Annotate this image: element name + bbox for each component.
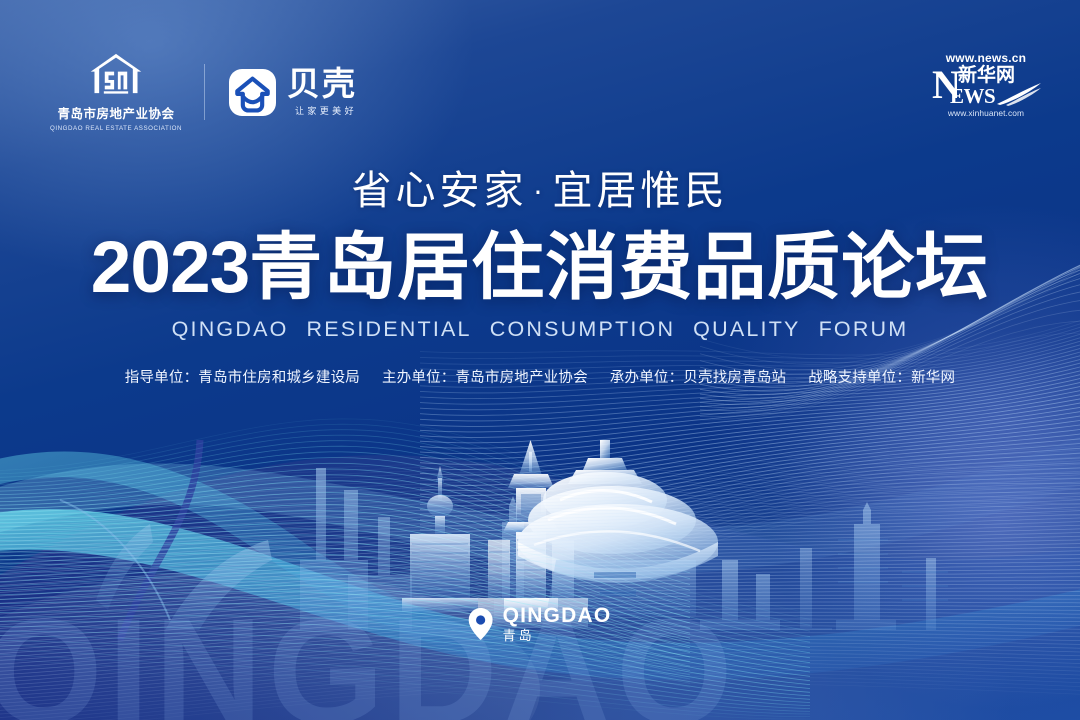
- city-name-en: QINGDAO: [503, 605, 612, 626]
- qingdao-real-estate-association-logo[interactable]: 青岛市房地产业协会 QINGDAO REAL ESTATE ASSOCIATIO…: [52, 52, 180, 132]
- xinhua-mark: N 新华网 EWS: [932, 66, 1040, 106]
- organizer-item-0: 指导单位：青岛市住房和城乡建设局: [114, 370, 371, 386]
- organizer-item-3: 战略支持单位：新华网: [797, 370, 966, 386]
- english-subtitle-word-4: FORUM: [810, 317, 918, 341]
- english-subtitle-word-0: QINGDAO: [163, 317, 298, 341]
- title-main-cn: 青岛居住消费品质论坛: [249, 225, 989, 310]
- house-seal-icon: [87, 52, 145, 96]
- slogan-left: 省心安家: [352, 168, 528, 214]
- organizer-item-1: 主办单位：青岛市房地产业协会: [371, 370, 599, 386]
- xinhua-letters-ews: EWS: [950, 86, 995, 107]
- beike-wordmark: 贝壳 让家更美好: [287, 67, 357, 117]
- title-year: 2023: [91, 227, 249, 308]
- event-slogan: 省心安家·宜居惟民: [0, 168, 1080, 216]
- xinhua-url-bottom: www.xinhuanet.com: [932, 108, 1040, 118]
- beike-slogan: 让家更美好: [287, 104, 357, 117]
- swoosh-icon: [996, 82, 1042, 106]
- city-marker-text: QINGDAO 青岛: [503, 605, 612, 643]
- logo-divider: [204, 64, 205, 120]
- english-subtitle-word-2: CONSUMPTION: [481, 317, 684, 341]
- organizers-line: 指导单位：青岛市住房和城乡建设局主办单位：青岛市房地产业协会承办单位：贝壳找房青…: [0, 368, 1080, 388]
- slogan-right: 宜居惟民: [552, 168, 728, 214]
- english-subtitle-word-1: RESIDENTIAL: [298, 317, 481, 341]
- organizer-item-2: 承办单位：贝壳找房青岛站: [599, 370, 797, 386]
- beike-name-cn: 贝壳: [287, 67, 357, 100]
- beike-shell-icon: [229, 69, 276, 116]
- city-name-cn: 青岛: [503, 630, 612, 643]
- beike-logo[interactable]: 贝壳 让家更美好: [229, 67, 357, 117]
- city-watermark-text: QINGDAO: [0, 596, 738, 720]
- poster-canvas: QINGDAO 青岛市房地产业协会 QINGDAO REAL ESTATE AS…: [0, 0, 1080, 720]
- xinhua-news-logo[interactable]: www.news.cn N 新华网 EWS www.xinhuanet.com: [932, 52, 1040, 118]
- assoc-name-cn: 青岛市房地产业协会: [57, 103, 174, 122]
- english-subtitle-word-3: QUALITY: [684, 317, 809, 341]
- sponsor-logo-bar: 青岛市房地产业协会 QINGDAO REAL ESTATE ASSOCIATIO…: [52, 52, 357, 132]
- english-subtitle: QINGDAORESIDENTIALCONSUMPTIONQUALITYFORU…: [0, 316, 1080, 342]
- page-title: 2023青岛居住消费品质论坛: [0, 226, 1080, 310]
- assoc-name-en: QINGDAO REAL ESTATE ASSOCIATION: [50, 125, 182, 132]
- title-block: 省心安家·宜居惟民 2023青岛居住消费品质论坛 QINGDAORESIDENT…: [0, 168, 1080, 388]
- city-marker: QINGDAO 青岛: [469, 605, 612, 643]
- slogan-separator: ·: [528, 176, 553, 209]
- location-pin-icon: [469, 608, 493, 640]
